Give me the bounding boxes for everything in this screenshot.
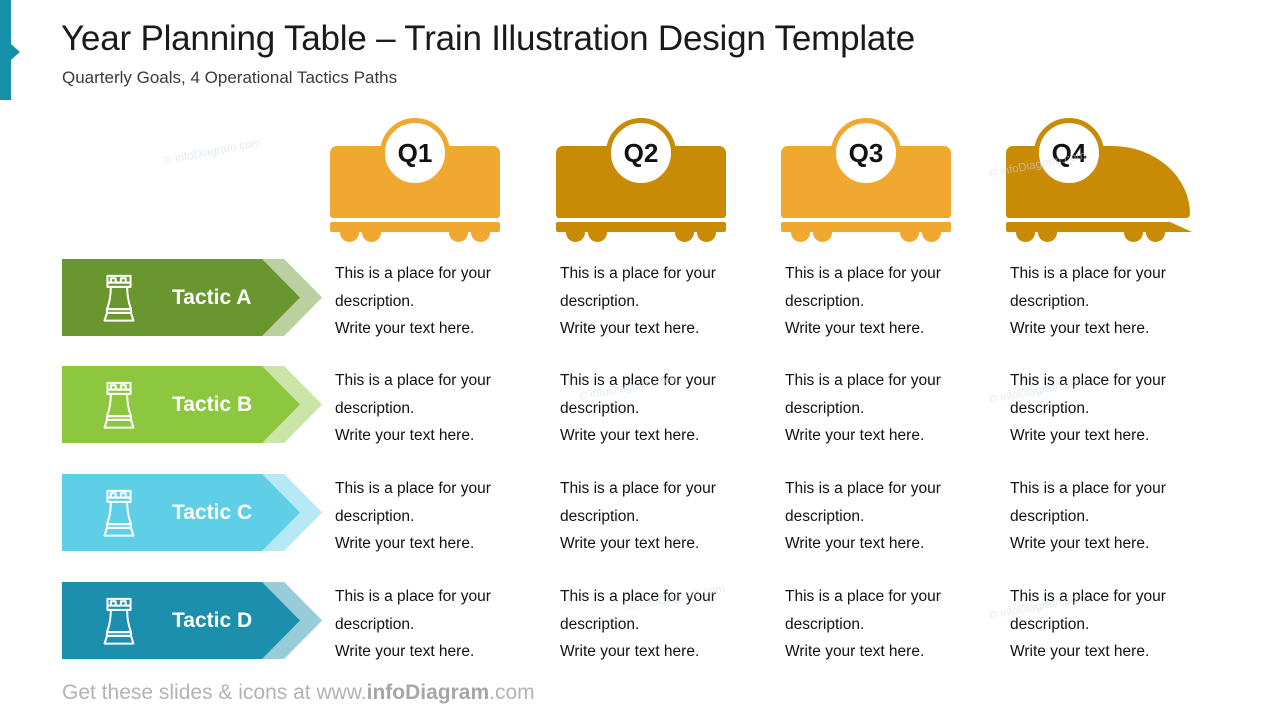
chess-rook-icon xyxy=(98,273,140,323)
train-car-q4[interactable]: Q4 xyxy=(1006,118,1192,236)
tactic-banner-tactic-c[interactable]: Tactic C xyxy=(62,474,322,551)
wheel-icon xyxy=(340,229,359,242)
quarter-badge-q4[interactable]: Q4 xyxy=(1034,118,1104,188)
description-line-2: Write your text here. xyxy=(785,530,990,558)
description-line-1: This is a place for your description. xyxy=(560,372,716,417)
description-line-2: Write your text here. xyxy=(560,315,765,343)
tactic-label: Tactic B xyxy=(172,366,252,443)
quarter-label: Q1 xyxy=(398,138,433,169)
description-cell-r3-c4[interactable]: This is a place for your description. Wr… xyxy=(1010,475,1215,558)
description-line-2: Write your text here. xyxy=(1010,530,1215,558)
description-cell-r2-c1[interactable]: This is a place for your description. Wr… xyxy=(335,367,540,450)
description-line-1: This is a place for your description. xyxy=(785,480,941,525)
description-line-1: This is a place for your description. xyxy=(560,588,716,633)
chess-rook-icon xyxy=(98,596,140,646)
train-car-q3[interactable]: Q3 xyxy=(781,118,951,236)
description-line-1: This is a place for your description. xyxy=(785,588,941,633)
wheel-icon xyxy=(697,229,716,242)
description-line-1: This is a place for your description. xyxy=(560,480,716,525)
wheel-icon xyxy=(791,229,810,242)
wheel-icon xyxy=(922,229,941,242)
quarter-badge-q1[interactable]: Q1 xyxy=(380,118,450,188)
tactic-label: Tactic D xyxy=(172,582,252,659)
quarter-label: Q4 xyxy=(1052,138,1087,169)
wheel-icon xyxy=(588,229,607,242)
description-line-2: Write your text here. xyxy=(1010,315,1215,343)
description-cell-r4-c1[interactable]: This is a place for your description. Wr… xyxy=(335,583,540,666)
description-cell-r3-c2[interactable]: This is a place for your description. Wr… xyxy=(560,475,765,558)
description-line-2: Write your text here. xyxy=(560,422,765,450)
description-line-1: This is a place for your description. xyxy=(785,372,941,417)
description-line-2: Write your text here. xyxy=(1010,638,1215,666)
footer-suffix: .com xyxy=(489,681,535,704)
wheel-icon xyxy=(362,229,381,242)
description-cell-r2-c2[interactable]: This is a place for your description. Wr… xyxy=(560,367,765,450)
wheel-icon xyxy=(1016,229,1035,242)
description-cell-r3-c1[interactable]: This is a place for your description. Wr… xyxy=(335,475,540,558)
page-subtitle: Quarterly Goals, 4 Operational Tactics P… xyxy=(62,66,397,90)
slide-canvas: Year Planning Table – Train Illustration… xyxy=(0,0,1280,720)
chess-rook-icon xyxy=(98,488,140,538)
wheel-icon xyxy=(1124,229,1143,242)
wheel-icon xyxy=(900,229,919,242)
wheel-icon xyxy=(1038,229,1057,242)
page-title: Year Planning Table – Train Illustration… xyxy=(61,16,915,61)
description-line-2: Write your text here. xyxy=(335,530,540,558)
description-line-2: Write your text here. xyxy=(335,315,540,343)
wheel-icon xyxy=(449,229,468,242)
left-accent-arrow-icon xyxy=(11,44,20,60)
description-cell-r2-c4[interactable]: This is a place for your description. Wr… xyxy=(1010,367,1215,450)
description-line-1: This is a place for your description. xyxy=(335,372,491,417)
description-cell-r2-c3[interactable]: This is a place for your description. Wr… xyxy=(785,367,990,450)
description-cell-r1-c1[interactable]: This is a place for your description. Wr… xyxy=(335,260,540,343)
wheel-icon xyxy=(1146,229,1165,242)
watermark: © infoDiagram.com xyxy=(163,137,262,168)
description-line-1: This is a place for your description. xyxy=(335,588,491,633)
description-line-1: This is a place for your description. xyxy=(1010,588,1166,633)
tactic-banner-tactic-a[interactable]: Tactic A xyxy=(62,259,322,336)
quarter-label: Q2 xyxy=(624,138,659,169)
tactic-label: Tactic C xyxy=(172,474,252,551)
quarter-badge-q3[interactable]: Q3 xyxy=(831,118,901,188)
description-line-1: This is a place for your description. xyxy=(1010,265,1166,310)
description-line-1: This is a place for your description. xyxy=(335,265,491,310)
wheel-icon xyxy=(471,229,490,242)
description-line-2: Write your text here. xyxy=(560,530,765,558)
footer-brand: infoDiagram xyxy=(367,681,490,704)
description-line-1: This is a place for your description. xyxy=(335,480,491,525)
description-line-1: This is a place for your description. xyxy=(1010,372,1166,417)
chess-rook-icon xyxy=(98,380,140,430)
description-line-1: This is a place for your description. xyxy=(785,265,941,310)
quarter-badge-q2[interactable]: Q2 xyxy=(606,118,676,188)
wheel-icon xyxy=(566,229,585,242)
description-line-2: Write your text here. xyxy=(785,638,990,666)
wheel-icon xyxy=(813,229,832,242)
wheel-icon xyxy=(675,229,694,242)
description-line-2: Write your text here. xyxy=(335,422,540,450)
description-cell-r1-c2[interactable]: This is a place for your description. Wr… xyxy=(560,260,765,343)
description-cell-r1-c3[interactable]: This is a place for your description. Wr… xyxy=(785,260,990,343)
tactic-banner-tactic-b[interactable]: Tactic B xyxy=(62,366,322,443)
description-cell-r4-c2[interactable]: This is a place for your description. Wr… xyxy=(560,583,765,666)
train-car-q1[interactable]: Q1 xyxy=(330,118,500,236)
tactic-banner-tactic-d[interactable]: Tactic D xyxy=(62,582,322,659)
footer-prefix: Get these slides & icons at www. xyxy=(62,681,367,704)
left-accent-bar xyxy=(0,0,11,100)
description-line-2: Write your text here. xyxy=(335,638,540,666)
description-cell-r4-c3[interactable]: This is a place for your description. Wr… xyxy=(785,583,990,666)
description-line-2: Write your text here. xyxy=(785,422,990,450)
quarter-label: Q3 xyxy=(849,138,884,169)
description-line-2: Write your text here. xyxy=(1010,422,1215,450)
description-cell-r1-c4[interactable]: This is a place for your description. Wr… xyxy=(1010,260,1215,343)
description-line-2: Write your text here. xyxy=(560,638,765,666)
description-cell-r4-c4[interactable]: This is a place for your description. Wr… xyxy=(1010,583,1215,666)
description-cell-r3-c3[interactable]: This is a place for your description. Wr… xyxy=(785,475,990,558)
description-line-1: This is a place for your description. xyxy=(1010,480,1166,525)
tactic-label: Tactic A xyxy=(172,259,251,336)
footer-credit: Get these slides & icons at www.infoDiag… xyxy=(62,681,535,705)
description-line-2: Write your text here. xyxy=(785,315,990,343)
description-line-1: This is a place for your description. xyxy=(560,265,716,310)
train-car-q2[interactable]: Q2 xyxy=(556,118,726,236)
